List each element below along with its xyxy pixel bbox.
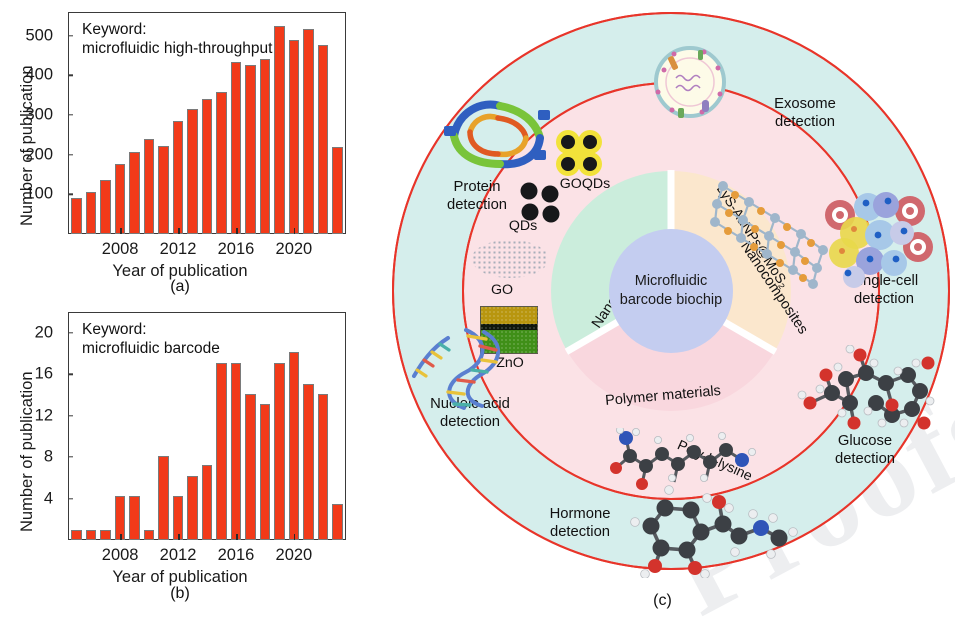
y-tick-label: 500 <box>25 26 60 45</box>
y-tick-label: 20 <box>35 323 60 342</box>
bar <box>144 139 154 234</box>
x-tick-mark <box>236 228 238 234</box>
bar <box>245 65 255 234</box>
poly-l-lysine-molecule-icon <box>602 428 762 490</box>
x-tick-label: 2008 <box>102 546 139 565</box>
y-tick-mark <box>68 332 73 333</box>
application-label-hormone-detection: Hormone detection <box>525 505 635 542</box>
y-tick-label: 8 <box>44 448 60 467</box>
y-tick-mark <box>68 114 73 115</box>
x-tick-label: 2020 <box>276 240 313 259</box>
glucose-molecule-icon <box>788 345 938 440</box>
y-tick-label: 200 <box>25 145 60 164</box>
x-tick-label: 2016 <box>218 240 255 259</box>
bar <box>245 394 255 540</box>
x-tick-mark <box>120 228 122 234</box>
application-label-exosome-detection: Exosome detection <box>750 95 860 132</box>
bar <box>231 363 241 540</box>
y-tick-mark <box>68 498 73 499</box>
x-tick-mark <box>294 534 296 540</box>
bar <box>173 121 183 234</box>
goqds-icon <box>553 129 607 179</box>
bar <box>216 92 226 234</box>
protein-structure-icon <box>438 92 558 174</box>
x-tick-mark <box>120 534 122 540</box>
chart-panel-b: Number of publication Keyword: microflui… <box>0 300 360 617</box>
y-tick-label: 400 <box>25 66 60 85</box>
y-tick-mark <box>68 35 73 36</box>
bar <box>100 530 110 540</box>
bar <box>115 164 125 234</box>
bar <box>260 404 270 540</box>
y-tick-mark <box>68 154 73 155</box>
bar <box>100 180 110 234</box>
bar <box>289 352 299 540</box>
keyword-annotation-a: Keyword: microfluidic high-throughput <box>82 20 272 59</box>
bar <box>231 62 241 234</box>
y-tick-label: 100 <box>25 185 60 204</box>
bar <box>303 384 313 540</box>
qds-icon <box>512 180 570 226</box>
bar <box>144 530 154 540</box>
go-sheet-icon <box>472 240 548 278</box>
y-tick-label: 12 <box>35 406 60 425</box>
bar <box>274 363 284 540</box>
bar <box>318 394 328 540</box>
keyword-annotation-b: Keyword: microfluidic barcode <box>82 320 220 359</box>
bar <box>332 504 342 540</box>
bar <box>86 530 96 540</box>
panel-letter-a: (a) <box>0 278 360 296</box>
bar <box>260 59 270 234</box>
nucleic-acid-dna-icon <box>408 322 538 412</box>
bar <box>216 363 226 540</box>
x-tick-label: 2008 <box>102 240 139 259</box>
y-tick-label: 300 <box>25 106 60 125</box>
bar <box>158 456 168 540</box>
bar <box>158 146 168 234</box>
x-tick-label: 2020 <box>276 546 313 565</box>
x-tick-mark <box>178 534 180 540</box>
bar <box>86 192 96 234</box>
y-tick-mark <box>68 373 73 374</box>
x-tick-label: 2012 <box>160 546 197 565</box>
bar <box>129 152 139 234</box>
y-tick-label: 16 <box>35 365 60 384</box>
bar <box>202 465 212 540</box>
circular-diagram-panel-c: -Proofs Nanomaterials <box>370 0 955 617</box>
y-tick-mark <box>68 75 73 76</box>
bar <box>129 496 139 540</box>
x-tick-label: 2012 <box>160 240 197 259</box>
chart-panel-a: Number of publication Keyword: microflui… <box>0 0 360 300</box>
bar <box>187 476 197 540</box>
panel-letter-c: (c) <box>370 592 955 610</box>
x-tick-label: 2016 <box>218 546 255 565</box>
single-cell-cluster-icon <box>818 185 933 295</box>
bar <box>202 99 212 234</box>
bar <box>318 45 328 234</box>
y-axis-label-b: Number of publication <box>18 371 37 532</box>
bar <box>303 29 313 234</box>
bar <box>274 26 284 234</box>
bar <box>71 530 81 540</box>
x-tick-mark <box>294 228 296 234</box>
panel-letter-b: (b) <box>0 585 360 603</box>
y-tick-mark <box>68 194 73 195</box>
y-tick-label: 4 <box>44 489 60 508</box>
exosome-icon <box>648 42 732 122</box>
hormone-molecule-icon <box>625 478 800 578</box>
bar <box>187 109 197 234</box>
material-label-go: GO <box>484 282 520 298</box>
y-tick-mark <box>68 415 73 416</box>
bar <box>289 40 299 234</box>
x-tick-mark <box>178 228 180 234</box>
x-tick-mark <box>236 534 238 540</box>
bar <box>71 198 81 234</box>
figure-root: Number of publication Keyword: microflui… <box>0 0 955 617</box>
y-tick-mark <box>68 456 73 457</box>
bar <box>332 147 342 234</box>
